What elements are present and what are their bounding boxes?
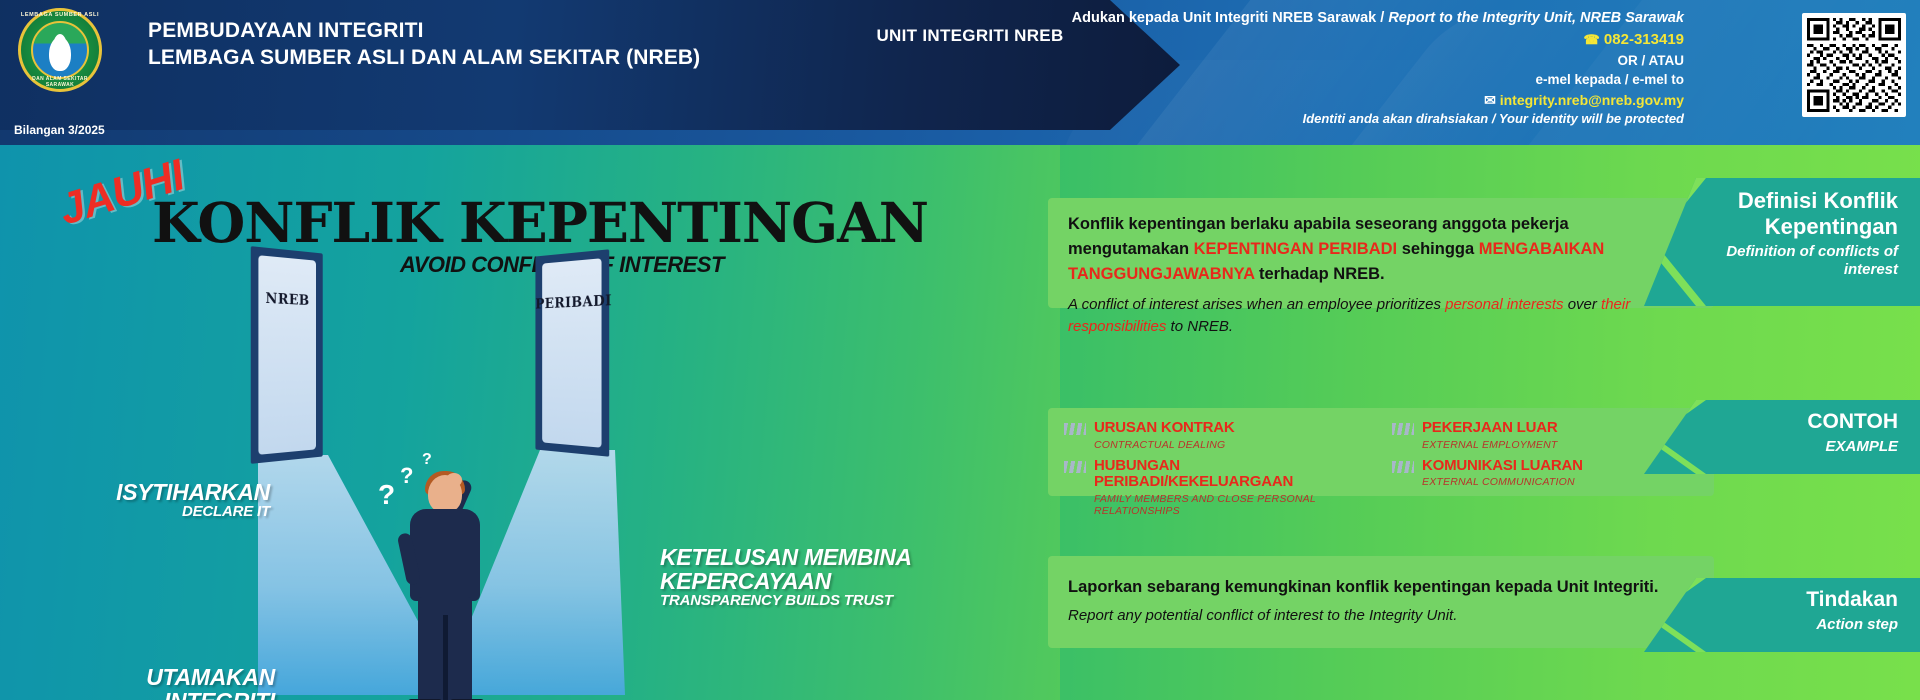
email-label: e-mel kepada / e-mel to xyxy=(1044,70,1684,90)
qr-code-image xyxy=(1807,18,1901,112)
action-text-my: Laporkan sebarang kemungkinan konflik ke… xyxy=(1068,578,1694,597)
privacy-note: Identiti anda akan dirahsiakan / Your id… xyxy=(1044,110,1684,129)
definition-text-my: Konflik kepentingan berlaku apabila sese… xyxy=(1068,212,1694,287)
question-mark-icon: ? xyxy=(422,451,432,469)
example-item: URUSAN KONTRAK CONTRACTUAL DEALING xyxy=(1064,420,1368,451)
caption-integrity-my: UTAMAKAN INTEGRITI xyxy=(35,665,275,700)
tab-contoh-label-my: CONTOH xyxy=(1714,410,1898,434)
issue-number: Bilangan 3/2025 xyxy=(14,123,105,137)
door-nreb[interactable]: NREB xyxy=(251,246,323,464)
action-text-en: Report any potential conflict of interes… xyxy=(1068,607,1694,624)
phone-line[interactable]: ☎ 082-313419 xyxy=(1044,29,1684,51)
door-panel xyxy=(542,258,601,447)
org-line-1: PEMBUDAYAAN INTEGRITI xyxy=(148,18,700,45)
tab-contoh-label-en: EXAMPLE xyxy=(1714,438,1898,456)
action-panel: Laporkan sebarang kemungkinan konflik ke… xyxy=(1048,556,1714,648)
tab-definisi-label-my: Definisi Konflik Kepentingan xyxy=(1714,188,1898,239)
example-title-en: CONTRACTUAL DEALING xyxy=(1094,439,1235,451)
definition-panel: Konflik kepentingan berlaku apabila sese… xyxy=(1048,198,1714,308)
example-title-my: URUSAN KONTRAK xyxy=(1094,420,1235,437)
arrow-bullet-icon xyxy=(1064,461,1086,473)
report-label-en: Report to the Integrity Unit, NREB Saraw… xyxy=(1388,10,1684,26)
figure-hand xyxy=(446,473,462,487)
nreb-logo: LEMBAGA SUMBER ASLI DAN ALAM SEKITAR SAR… xyxy=(18,8,102,92)
example-title-en: FAMILY MEMBERS AND CLOSE PERSONAL RELATI… xyxy=(1094,493,1368,517)
report-separator: / xyxy=(1380,10,1384,26)
email-line[interactable]: ✉ integrity.nreb@nreb.gov.my xyxy=(1044,90,1684,110)
caption-declare-my: ISYTIHARKAN xyxy=(110,480,270,504)
caption-trust-en: TRANSPARENCY BUILDS TRUST xyxy=(660,593,930,609)
definition-en-highlight1: personal interests xyxy=(1445,296,1563,313)
figure-legs xyxy=(418,597,472,700)
door-panel xyxy=(258,255,316,455)
definition-my-highlight1: KEPENTINGAN PERIBADI xyxy=(1194,240,1398,258)
tab-definisi-label-en: Definition of conflicts of interest xyxy=(1714,243,1898,278)
or-atau-label: OR / ATAU xyxy=(1044,51,1684,71)
header-org-title: PEMBUDAYAAN INTEGRITI LEMBAGA SUMBER ASL… xyxy=(148,18,700,72)
figure-torso xyxy=(410,509,480,601)
definition-text-en: A conflict of interest arises when an em… xyxy=(1068,294,1694,338)
qr-code[interactable] xyxy=(1802,13,1906,117)
definition-my-part2: sehingga xyxy=(1397,240,1479,258)
page-header: LEMBAGA SUMBER ASLI DAN ALAM SEKITAR SAR… xyxy=(0,0,1920,145)
report-label-my: Adukan kepada Unit Integriti NREB Sarawa… xyxy=(1072,10,1377,26)
envelope-icon: ✉ xyxy=(1484,92,1496,108)
example-title-en: EXTERNAL EMPLOYMENT xyxy=(1422,439,1558,451)
definition-my-part3: terhadap NREB. xyxy=(1254,265,1384,283)
phone-icon: ☎ xyxy=(1584,32,1600,47)
example-item: HUBUNGAN PERIBADI/KEKELUARGAAN FAMILY ME… xyxy=(1064,458,1368,517)
email-address[interactable]: integrity.nreb@nreb.gov.my xyxy=(1500,92,1684,108)
definition-en-part1: A conflict of interest arises when an em… xyxy=(1068,296,1445,313)
example-title-en: EXTERNAL COMMUNICATION xyxy=(1422,476,1583,488)
caption-declare: ISYTIHARKAN DECLARE IT xyxy=(110,480,270,520)
examples-column-left: URUSAN KONTRAK CONTRACTUAL DEALING HUBUN… xyxy=(1064,420,1368,524)
door-label-nreb: NREB xyxy=(251,290,323,310)
report-line: Adukan kepada Unit Integriti NREB Sarawa… xyxy=(1044,8,1684,29)
phone-number[interactable]: 082-313419 xyxy=(1604,31,1684,48)
water-drop-icon xyxy=(54,39,66,55)
caption-trust-my: KETELUSAN MEMBINA KEPERCAYAAN xyxy=(660,545,930,593)
example-item: PEKERJAAN LUAR EXTERNAL EMPLOYMENT xyxy=(1392,420,1696,451)
examples-panel: URUSAN KONTRAK CONTRACTUAL DEALING HUBUN… xyxy=(1048,408,1714,496)
example-title-my: PEKERJAAN LUAR xyxy=(1422,420,1558,437)
door-label-peribadi: PERIBADI xyxy=(535,293,609,313)
definition-en-part3: to NREB. xyxy=(1166,318,1233,335)
question-mark-icon: ? xyxy=(378,479,395,511)
tab-tindakan-label-en: Action step xyxy=(1714,616,1898,634)
caption-integrity: UTAMAKAN INTEGRITI INTEGRITY FIRST xyxy=(35,665,275,700)
tab-tindakan-label-my: Tindakan xyxy=(1714,588,1898,612)
definition-en-part2: over xyxy=(1564,296,1602,313)
arrow-bullet-icon xyxy=(1064,423,1086,435)
door-peribadi[interactable]: PERIBADI xyxy=(535,249,609,456)
logo-top-text: LEMBAGA SUMBER ASLI xyxy=(18,12,102,18)
arrow-bullet-icon xyxy=(1392,461,1414,473)
caption-trust: KETELUSAN MEMBINA KEPERCAYAAN TRANSPAREN… xyxy=(660,545,930,609)
example-title-my: HUBUNGAN PERIBADI/KEKELUARGAAN xyxy=(1094,458,1368,491)
arrow-bullet-icon xyxy=(1392,423,1414,435)
org-line-2: LEMBAGA SUMBER ASLI DAN ALAM SEKITAR (NR… xyxy=(148,45,700,72)
example-title-my: KOMUNIKASI LUARAN xyxy=(1422,458,1583,475)
contact-block: Adukan kepada Unit Integriti NREB Sarawa… xyxy=(1044,8,1684,129)
logo-bottom-text: DAN ALAM SEKITAR SARAWAK xyxy=(18,76,102,88)
hero-illustration: NREB PERIBADI ? ? ? ISYTIHARKAN DECLARE … xyxy=(0,145,1040,700)
question-mark-icon: ? xyxy=(400,463,413,489)
person-figure: ? ? ? xyxy=(388,475,508,700)
logo-emblem xyxy=(31,21,89,79)
caption-declare-en: DECLARE IT xyxy=(110,504,270,520)
